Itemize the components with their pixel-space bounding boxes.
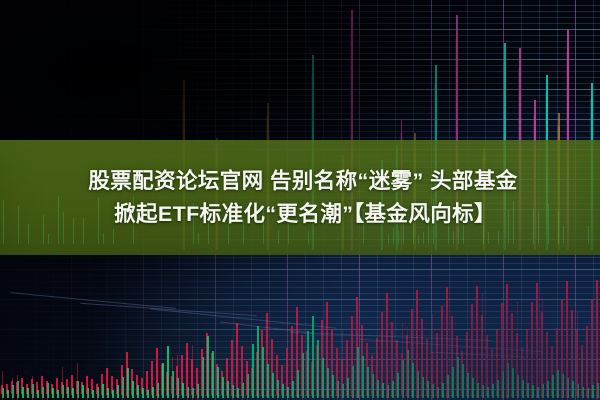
headline-text-block: 股票配资论坛官网 告别名称“迷雾” 头部基金 掀起ETF标准化“更名潮”【基金风… bbox=[0, 140, 600, 255]
headline-line-1: 股票配资论坛官网 告别名称“迷雾” 头部基金 bbox=[82, 167, 517, 195]
chart-banner-image: 股票配资论坛官网 告别名称“迷雾” 头部基金 掀起ETF标准化“更名潮”【基金风… bbox=[0, 0, 600, 400]
headline-line-2: 掀起ETF标准化“更名潮”【基金风向标】 bbox=[104, 200, 496, 228]
